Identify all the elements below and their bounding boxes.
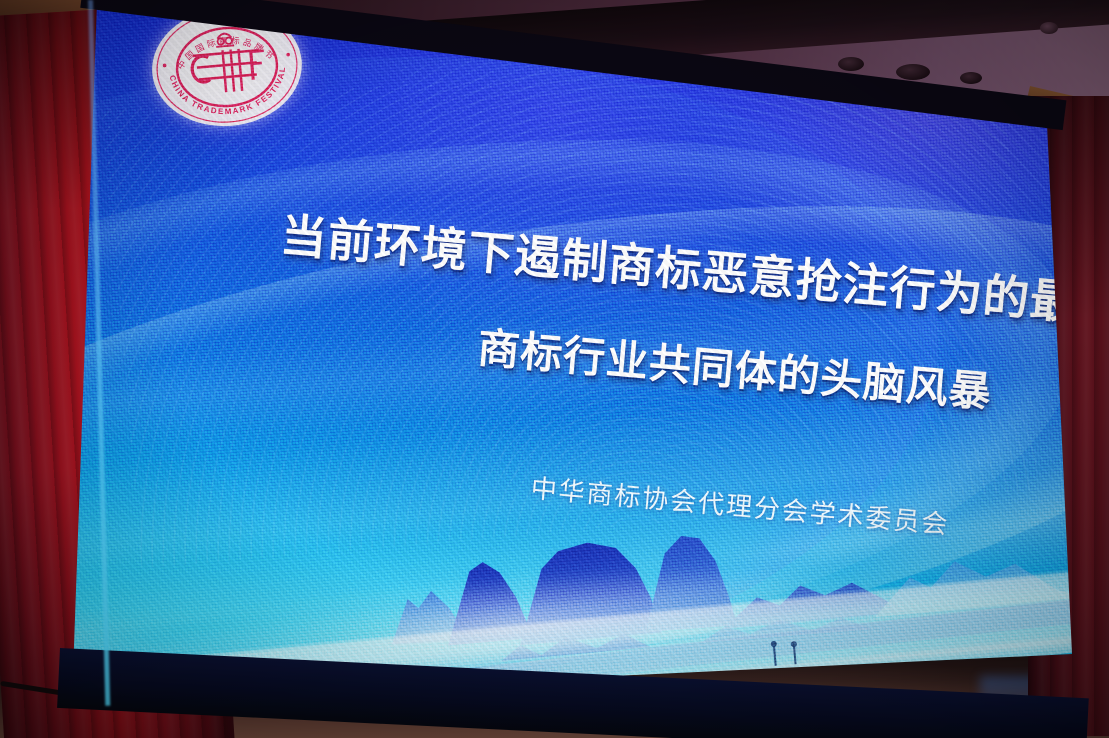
photo-scene: 中国国际商标品牌节 CHINA TRADEMARK FESTIVAL — [0, 0, 1109, 738]
logo-dot-left — [163, 63, 167, 67]
ceiling-light-fixture — [960, 72, 982, 84]
led-presentation-screen: 中国国际商标品牌节 CHINA TRADEMARK FESTIVAL — [0, 0, 1109, 738]
ceiling-light-fixture — [838, 57, 864, 71]
logo-dot-right — [286, 53, 290, 57]
ceiling-light-fixture — [896, 64, 930, 80]
ceiling-light-fixture — [1040, 22, 1058, 34]
